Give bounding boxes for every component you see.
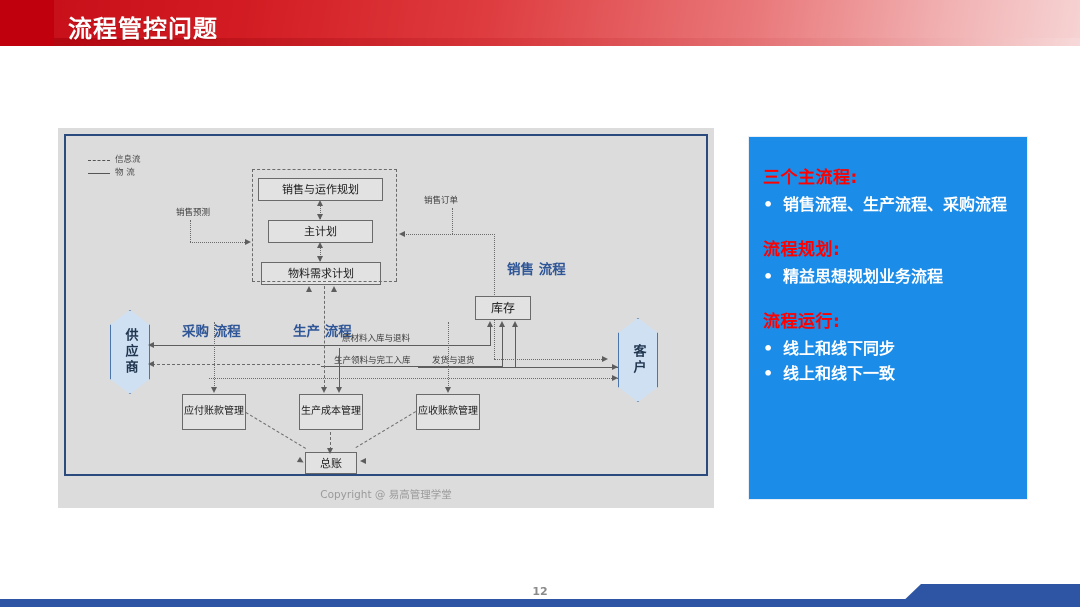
label-material-inbound: 原材料入库与退料 (342, 332, 410, 344)
ar-feed-line (448, 322, 449, 388)
page-title: 流程管控问题 (68, 9, 218, 44)
summary-group-process-operation: 流程运行: • 线上和线下同步 • 线上和线下一致 (763, 307, 1011, 386)
solid-line-icon (88, 173, 110, 174)
material-in-line (152, 345, 491, 346)
party-customer: 客户 (618, 318, 658, 402)
summary-bullet-text: 线上和线下一致 (783, 361, 1011, 386)
cost-feed-line (324, 286, 325, 388)
production-pick-riser (502, 326, 503, 367)
summary-panel: 三个主流程: • 销售流程、生产流程、采购流程 流程规划: • 精益思想规划业务… (748, 136, 1028, 500)
node-general-ledger: 总账 (305, 452, 357, 474)
info-loop-left-trunk (252, 169, 253, 281)
party-customer-label: 客户 (629, 344, 648, 376)
diagram-frame: 信息流 物 流 销售与运作规划 主计划 物料需求计划 销售预测 (64, 134, 708, 476)
summary-bullet: • 线上和线下同步 (763, 336, 1011, 361)
summary-bullet: • 精益思想规划业务流程 (763, 264, 1011, 289)
label-shipment-return: 发货与退货 (432, 354, 475, 366)
arrowhead-down (211, 387, 217, 393)
summary-group-main-processes: 三个主流程: • 销售流程、生产流程、采购流程 (763, 163, 1011, 217)
arrowhead-right (612, 375, 618, 381)
summary-group-process-planning: 流程规划: • 精益思想规划业务流程 (763, 235, 1011, 289)
info-loop-top (252, 169, 397, 170)
bullet-icon: • (763, 264, 783, 289)
bullet-icon: • (763, 361, 783, 386)
summary-bullet: • 销售流程、生产流程、采购流程 (763, 192, 1011, 217)
arrowhead-up (306, 286, 312, 292)
node-accounts-payable-label: 应付账款管理 (184, 406, 244, 418)
label-sales-process: 销售 流程 (507, 258, 566, 278)
party-supplier-label: 供应商 (121, 328, 140, 376)
ap-feed-line (214, 322, 215, 388)
arrowhead-down (445, 387, 451, 393)
arrowhead-up (487, 321, 493, 327)
footer-bar (0, 599, 1080, 607)
sales-order-line-vertical (452, 208, 453, 234)
slide: 流程管控问题 信息流 物 流 销售与运作规划 主计划 物料需求计划 (0, 0, 1080, 607)
arrowhead-down (327, 448, 333, 454)
arrowhead-right (245, 239, 251, 245)
label-purchase-process: 采购 流程 (182, 320, 241, 340)
summary-bullet: • 线上和线下一致 (763, 361, 1011, 386)
diagram-legend: 信息流 物 流 (88, 154, 141, 180)
legend-label: 信息流 (115, 154, 141, 167)
arrowhead-up (317, 200, 323, 206)
legend-item-information-flow: 信息流 (88, 154, 141, 167)
process-diagram: 信息流 物 流 销售与运作规划 主计划 物料需求计划 销售预测 (58, 128, 714, 508)
node-accounts-payable: 应付账款管理 (182, 394, 246, 430)
arrowhead-right (297, 457, 305, 465)
arrowhead-up (331, 286, 337, 292)
arrowhead-up (317, 242, 323, 248)
arrowhead-left (148, 342, 154, 348)
slide-header: 流程管控问题 (0, 0, 1080, 46)
arrowhead-left (399, 231, 405, 237)
arrowhead-left (360, 458, 366, 464)
arrowhead-down (317, 256, 323, 262)
ar-to-ledger-line (333, 374, 416, 448)
summary-bullet-text: 销售流程、生产流程、采购流程 (783, 192, 1011, 217)
arrowhead-up (499, 321, 505, 327)
bullet-icon: • (763, 192, 783, 217)
info-loop-right-trunk (396, 169, 397, 281)
summary-group-title: 三个主流程: (763, 163, 1011, 188)
supplier-return-line (152, 364, 320, 365)
summary-group-title: 流程运行: (763, 307, 1011, 332)
header-accent-block (0, 0, 54, 46)
legend-label: 物 流 (115, 167, 135, 180)
summary-bullet-text: 精益思想规划业务流程 (783, 264, 1011, 289)
node-inventory: 库存 (475, 296, 531, 320)
info-loop-bottom (252, 281, 397, 282)
customer-feedback-line (209, 378, 618, 379)
arrowhead-right (612, 364, 618, 370)
arrowhead-down (321, 387, 327, 393)
label-sales-order: 销售订单 (424, 194, 458, 206)
node-accounts-receivable: 应收账款管理 (416, 394, 480, 430)
cost-material-feed (339, 348, 340, 388)
label-production-picking: 生产领料与完工入库 (334, 354, 411, 366)
node-master-plan: 主计划 (268, 220, 373, 243)
forecast-line-vertical (190, 220, 191, 242)
arrowhead-left (148, 361, 154, 367)
forecast-line-horizontal (190, 242, 247, 243)
copyright-text: Copyright @ 易高管理学堂 (58, 487, 714, 502)
arrowhead-up (512, 321, 518, 327)
node-accounts-receivable-label: 应收账款管理 (418, 406, 478, 418)
material-in-riser (490, 326, 491, 346)
shipment-riser (515, 326, 516, 368)
arrowhead-down (317, 214, 323, 220)
party-supplier: 供应商 (110, 310, 150, 394)
sales-lane-top (452, 234, 495, 235)
bullet-icon: • (763, 336, 783, 361)
label-sales-forecast: 销售预测 (176, 206, 210, 218)
summary-bullet-text: 线上和线下同步 (783, 336, 1011, 361)
sales-lane-to-customer (494, 359, 604, 360)
arrowhead-down (336, 387, 342, 393)
dashed-line-icon (88, 160, 110, 161)
arrowhead-right (602, 356, 608, 362)
summary-group-title: 流程规划: (763, 235, 1011, 260)
sales-order-line-horizontal (403, 234, 453, 235)
node-sales-operations-planning: 销售与运作规划 (258, 178, 383, 201)
legend-item-material-flow: 物 流 (88, 167, 141, 180)
